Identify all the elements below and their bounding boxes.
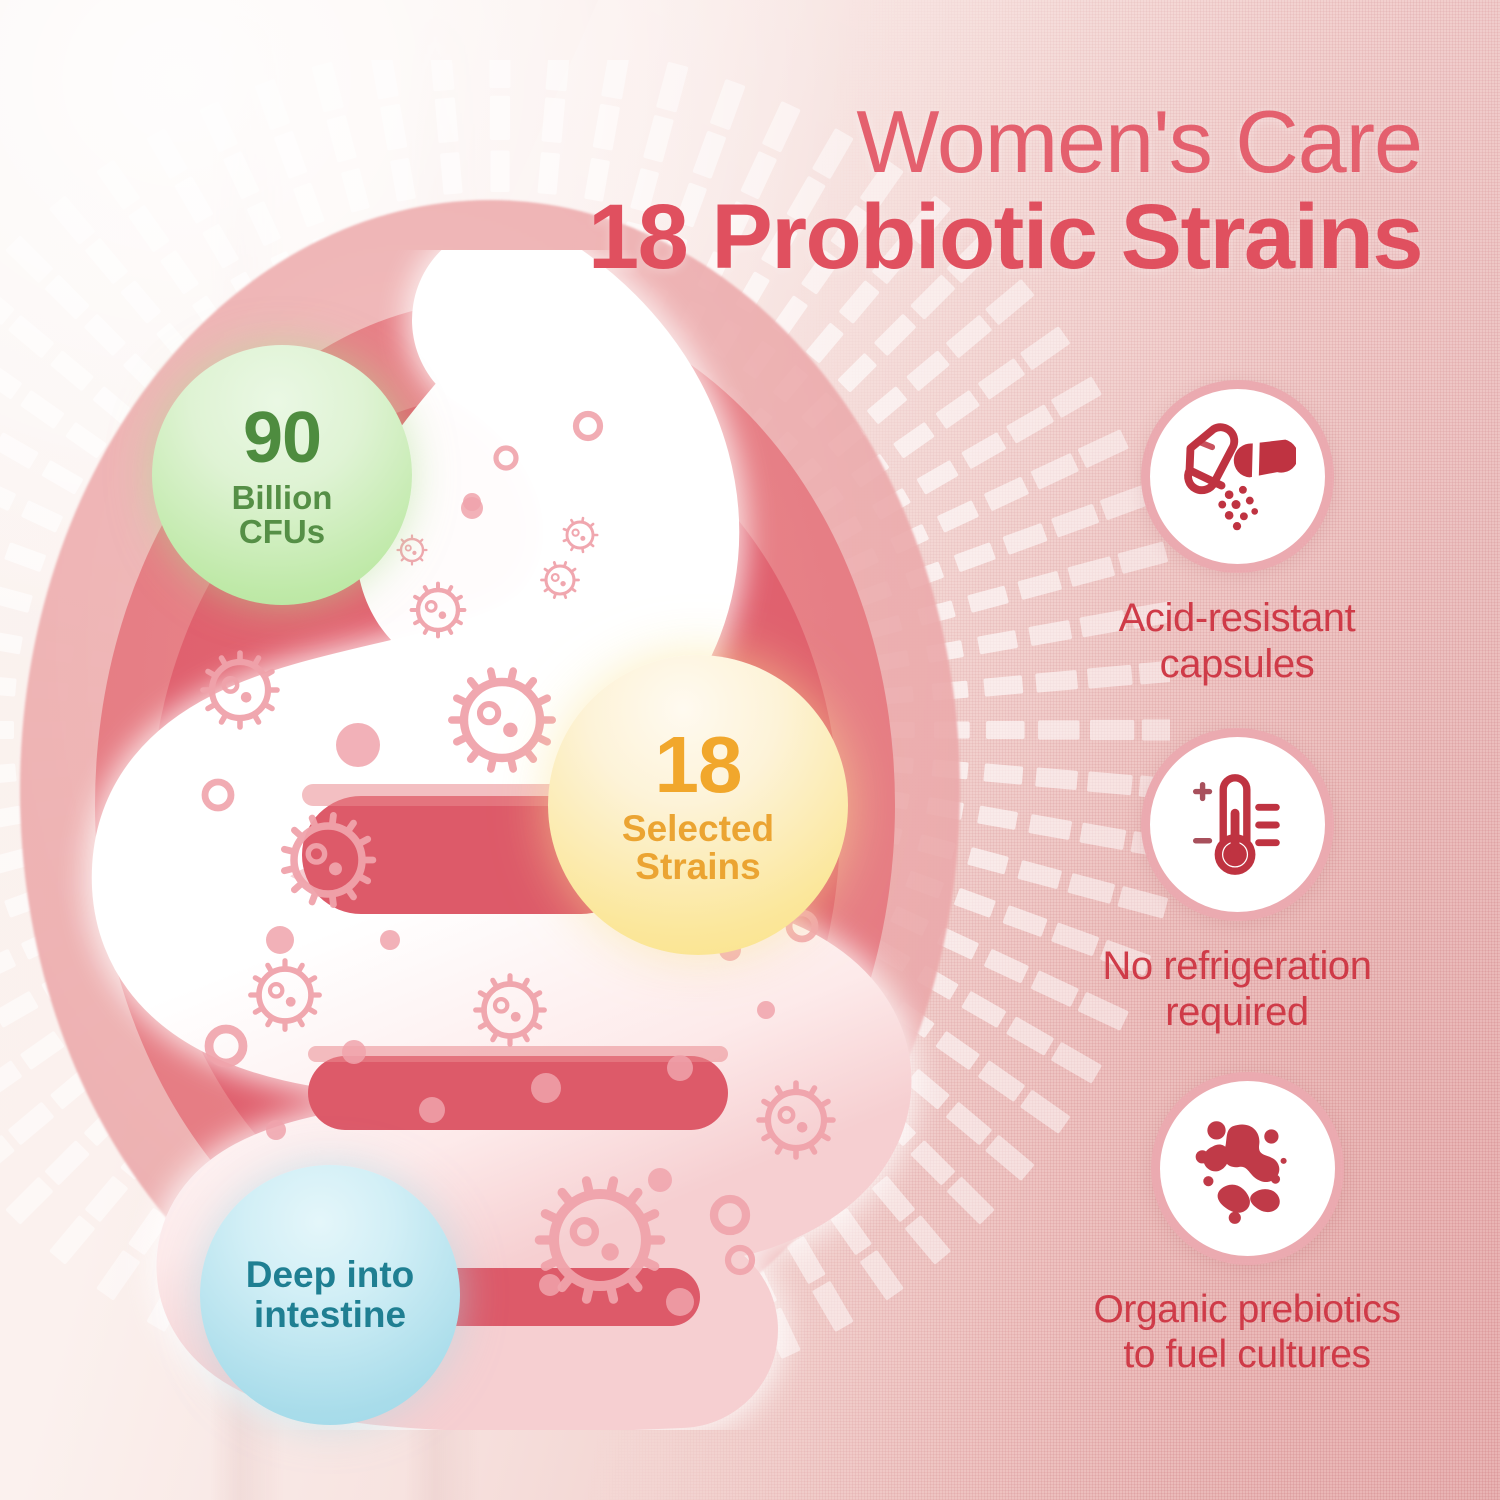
badge-strains-label: Selected Strains <box>622 810 774 885</box>
feature-label-0: Acid-resistant capsules <box>1022 595 1452 688</box>
headline-line-1: Women's Care <box>588 98 1422 186</box>
thermometer-icon <box>1178 766 1296 884</box>
cultures-blob-icon <box>1186 1108 1308 1230</box>
feature-icon-circle-0 <box>1141 380 1334 573</box>
capsule-granules-icon <box>1178 418 1296 536</box>
feature-organic-prebiotics: Organic prebiotics to fuel cultures <box>1032 1072 1462 1377</box>
headline-block: Women's Care 18 Probiotic Strains <box>588 98 1422 289</box>
feature-no-refrigeration: No refrigeration required <box>1022 728 1452 1036</box>
badge-strains: 18 Selected Strains <box>548 655 848 955</box>
infographic-canvas: 90 Billion CFUs 18 Selected Strains Deep… <box>0 0 1500 1500</box>
feature-label-2: Organic prebiotics to fuel cultures <box>1032 1287 1462 1377</box>
badge-cfu-value: 90 <box>243 402 321 475</box>
feature-acid-resistant: Acid-resistant capsules <box>1022 380 1452 688</box>
badge-cfu-label: Billion CFUs <box>232 481 333 548</box>
feature-icon-circle-1 <box>1141 728 1334 921</box>
badge-deep-into-intestine: Deep into intestine <box>200 1165 460 1425</box>
badge-strains-value: 18 <box>655 724 742 806</box>
badge-cfu: 90 Billion CFUs <box>152 345 412 605</box>
feature-label-1: No refrigeration required <box>1022 943 1452 1036</box>
feature-icon-circle-2 <box>1151 1072 1344 1265</box>
headline-line-2: 18 Probiotic Strains <box>588 186 1422 289</box>
badge-deep-label: Deep into intestine <box>246 1255 415 1335</box>
